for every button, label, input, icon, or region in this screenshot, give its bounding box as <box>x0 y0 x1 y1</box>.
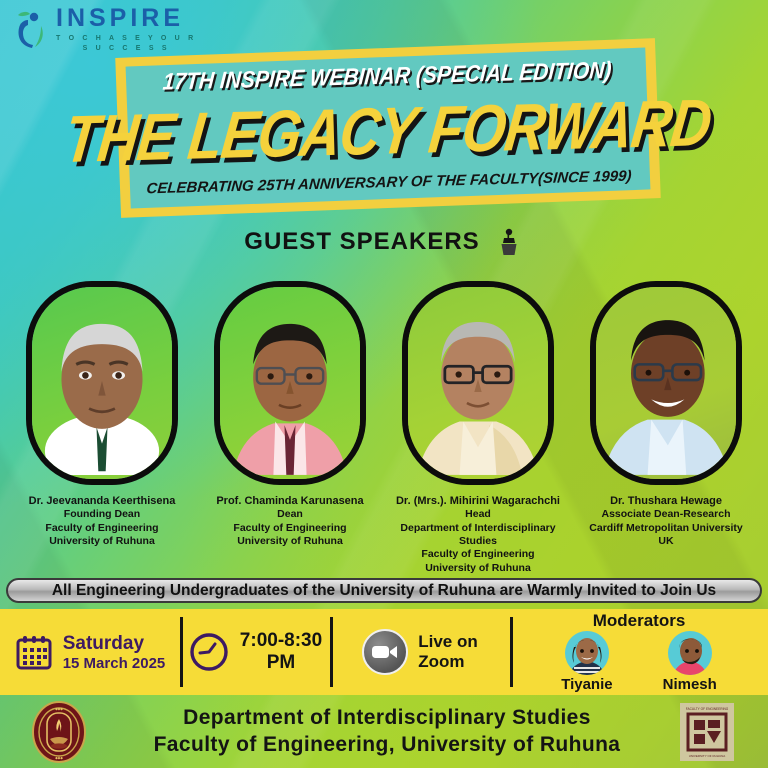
speaker-name-block: Dr. Jeevananda Keerthisena Founding Dean… <box>19 494 185 548</box>
speaker-org-1: Cardiff Metropolitan University <box>583 522 749 535</box>
speaker-org-2: UK <box>583 535 749 548</box>
speaker-photo-frame <box>26 281 178 485</box>
date-cell: Saturday 15 March 2025 <box>0 609 180 695</box>
eng-logo-top-text: FACULTY OF ENGINEERING <box>686 707 729 711</box>
moderator-name: Tiyanie <box>561 676 612 693</box>
moderator-item: Tiyanie <box>561 631 612 693</box>
event-time-range: 7:00-8:30 <box>240 630 322 652</box>
university-of-ruhuna-crest: ◆◆◆ ◆◆◆ <box>30 701 88 763</box>
speaker-name-block: Prof. Chaminda Karunasena Dean Faculty o… <box>207 494 373 548</box>
clock-icon <box>188 631 230 673</box>
time-cell: 7:00-8:30 PM <box>180 609 330 695</box>
speaker-org-1: Department of Interdisciplinary Studies <box>395 522 561 549</box>
speaker-photo <box>408 287 548 479</box>
speaker-role: Head <box>395 508 561 521</box>
guest-speakers-label: GUEST SPEAKERS <box>244 228 479 256</box>
guest-speakers-heading: GUEST SPEAKERS <box>0 227 768 257</box>
speaker-org-2: University of Ruhuna <box>207 535 373 548</box>
video-camera-icon <box>362 629 408 675</box>
speaker-photo-frame <box>214 281 366 485</box>
speaker-photo-frame <box>590 281 742 485</box>
speaker-name: Dr. Thushara Hewage <box>583 494 749 508</box>
footer-line-2: Faculty of Engineering, University of Ru… <box>94 732 680 759</box>
speaker-card: Prof. Chaminda Karunasena Dean Faculty o… <box>207 281 373 575</box>
speaker-photo-frame <box>402 281 554 485</box>
speaker-name: Dr. Jeevananda Keerthisena <box>19 494 185 508</box>
speaker-org-2: Faculty of Engineering <box>395 548 561 561</box>
event-details-bar: Saturday 15 March 2025 7:00-8:30 PM Live… <box>0 609 768 695</box>
speaker-role: Founding Dean <box>19 508 185 521</box>
speaker-org-2: University of Ruhuna <box>19 535 185 548</box>
moderator-avatar-male <box>668 631 712 675</box>
speaker-role: Dean <box>207 508 373 521</box>
speaker-name: Dr. (Mrs.). Mihirini Wagarachchi <box>395 494 561 508</box>
speaker-role: Associate Dean-Research <box>583 508 749 521</box>
eng-logo-bottom-text: UNIVERSITY OF RUHUNA <box>689 754 726 758</box>
speakers-list: Dr. Jeevananda Keerthisena Founding Dean… <box>0 281 768 575</box>
svg-text:◆◆◆: ◆◆◆ <box>55 756 63 760</box>
speaker-card: Dr. Thushara Hewage Associate Dean-Resea… <box>583 281 749 575</box>
calendar-icon <box>15 633 53 671</box>
faculty-of-engineering-logo: FACULTY OF ENGINEERING UNIVERSITY OF RUH… <box>680 703 734 761</box>
event-day: Saturday <box>63 633 166 655</box>
platform-line-1: Live on <box>418 632 478 652</box>
speaker-org-1: Faculty of Engineering <box>207 522 373 535</box>
speaker-photo <box>220 287 360 479</box>
platform-line-2: Zoom <box>418 652 478 672</box>
footer-text: Department of Interdisciplinary Studies … <box>88 705 680 759</box>
speaker-org-1: Faculty of Engineering <box>19 522 185 535</box>
speaker-name: Prof. Chaminda Karunasena <box>207 494 373 508</box>
invitation-text: All Engineering Undergraduates of the Un… <box>52 582 716 600</box>
speaker-name-block: Dr. (Mrs.). Mihirini Wagarachchi Head De… <box>395 494 561 575</box>
svg-text:◆◆◆: ◆◆◆ <box>55 707 63 711</box>
brand-tagline-1: T O C H A S E Y O U R <box>56 35 196 42</box>
event-date: 15 March 2025 <box>63 655 166 672</box>
banner-title: THE LEGACY FORWARD <box>61 84 715 178</box>
speaker-org-3: University of Ruhuna <box>395 562 561 575</box>
title-banner: 17TH INSPIRE WEBINAR (SPECIAL EDITION) T… <box>115 38 661 218</box>
moderator-name: Nimesh <box>663 676 717 693</box>
speaker-card: Dr. (Mrs.). Mihirini Wagarachchi Head De… <box>395 281 561 575</box>
speaker-photo <box>596 287 736 479</box>
moderators-cell: Moderators Tiyanie <box>510 609 768 695</box>
moderators-title: Moderators <box>593 612 686 629</box>
speaker-photo <box>32 287 172 479</box>
moderator-item: Nimesh <box>663 631 717 693</box>
brand-name: INSPIRE <box>56 6 196 31</box>
podium-speaker-icon <box>494 227 524 257</box>
speaker-name-block: Dr. Thushara Hewage Associate Dean-Resea… <box>583 494 749 548</box>
inspire-logo: INSPIRE T O C H A S E Y O U R S U C C E … <box>12 6 196 52</box>
footer-line-1: Department of Interdisciplinary Studies <box>94 705 680 732</box>
brand-tagline-2: S U C C E S S <box>56 45 196 52</box>
platform-cell: Live on Zoom <box>330 609 510 695</box>
speaker-card: Dr. Jeevananda Keerthisena Founding Dean… <box>19 281 185 575</box>
footer: ◆◆◆ ◆◆◆ Department of Interdisciplinary … <box>0 695 768 768</box>
invitation-banner: All Engineering Undergraduates of the Un… <box>6 578 762 603</box>
moderator-avatar-female <box>565 631 609 675</box>
event-time-period: PM <box>240 652 322 674</box>
inspire-person-leaf-logo <box>12 7 52 51</box>
